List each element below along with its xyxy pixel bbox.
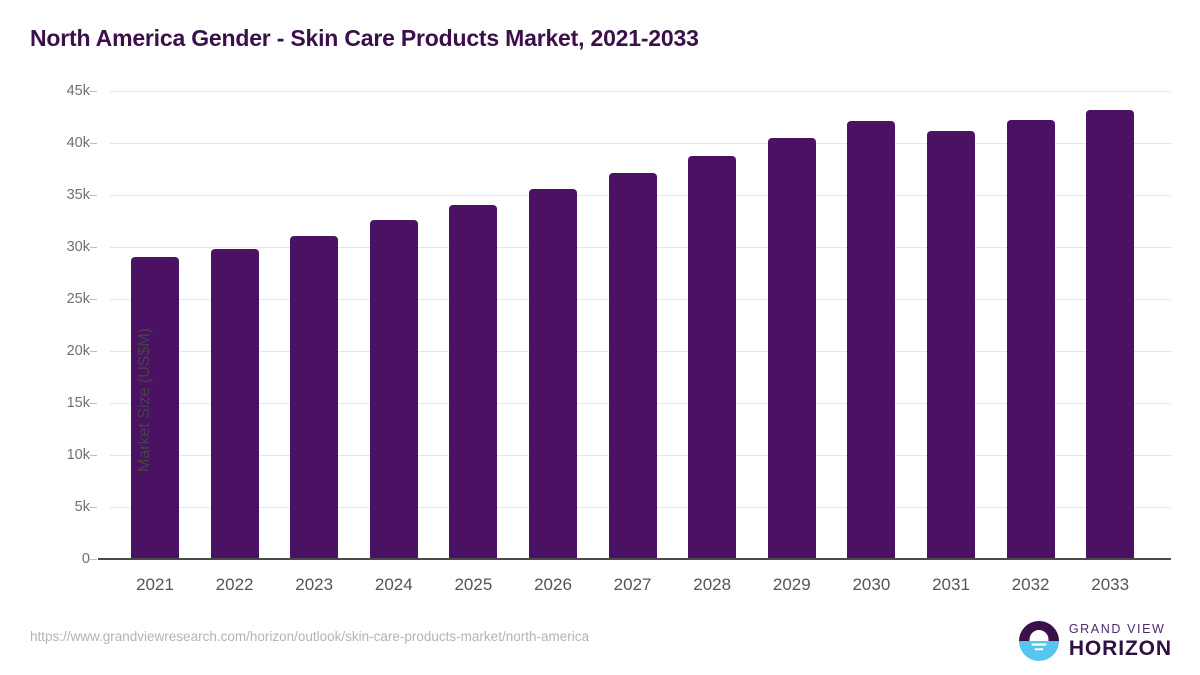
source-url[interactable]: https://www.grandviewresearch.com/horizo…: [30, 629, 589, 644]
brand-logo[interactable]: GRAND VIEW HORIZON: [1018, 620, 1172, 662]
y-axis-tick-mark: [90, 507, 97, 508]
chart-page: North America Gender - Skin Care Product…: [0, 0, 1200, 675]
bar[interactable]: [290, 236, 338, 558]
y-axis-tick-mark: [90, 351, 97, 352]
y-axis-tick-label: 25k: [20, 291, 90, 307]
y-axis-tick-label: 40k: [20, 135, 90, 151]
x-axis-tick-label: 2027: [614, 575, 652, 595]
y-axis-tick-label: 45k: [20, 83, 90, 99]
y-axis-tick-mark: [90, 195, 97, 196]
bar[interactable]: [529, 189, 577, 558]
bar[interactable]: [768, 138, 816, 558]
page-title: North America Gender - Skin Care Product…: [30, 25, 699, 52]
y-axis-tick-mark: [90, 559, 97, 560]
plot-area: 2021202220232024202520262027202820292030…: [110, 91, 1171, 559]
x-axis-tick-label: 2026: [534, 575, 572, 595]
y-axis-tick-label: 0: [20, 551, 90, 567]
bar[interactable]: [609, 173, 657, 558]
x-axis-tick-label: 2030: [852, 575, 890, 595]
bar[interactable]: [688, 156, 736, 558]
x-axis-tick-label: 2022: [216, 575, 254, 595]
x-axis-tick-label: 2033: [1091, 575, 1129, 595]
bar[interactable]: [211, 249, 259, 558]
x-axis-tick-label: 2028: [693, 575, 731, 595]
logo-text-horizon: HORIZON: [1069, 638, 1172, 659]
bar[interactable]: [370, 220, 418, 558]
x-axis-tick-label: 2024: [375, 575, 413, 595]
y-axis-title: Market Size (US$M): [136, 190, 154, 610]
y-axis-tick-label: 5k: [20, 499, 90, 515]
bar[interactable]: [449, 205, 497, 558]
x-axis-tick-label: 2029: [773, 575, 811, 595]
x-axis-line: [98, 558, 1171, 560]
y-axis-tick-mark: [90, 247, 97, 248]
y-axis-tick-mark: [90, 143, 97, 144]
y-axis-tick-group: 05k10k15k20k25k30k35k40k45k: [20, 91, 90, 559]
y-axis-tick-mark: [90, 91, 97, 92]
bar[interactable]: [927, 131, 975, 558]
horizon-sunset-circle-icon: [1018, 620, 1060, 662]
bar[interactable]: [847, 121, 895, 558]
y-axis-tick-label: 20k: [20, 343, 90, 359]
y-axis-tick-label: 35k: [20, 187, 90, 203]
y-axis-tick-label: 30k: [20, 239, 90, 255]
y-axis-tick-label: 15k: [20, 395, 90, 411]
x-axis-tick-label: 2031: [932, 575, 970, 595]
y-axis-tick-mark: [90, 403, 97, 404]
bar[interactable]: [1007, 120, 1055, 558]
gridline: [110, 91, 1171, 92]
x-axis-tick-label: 2023: [295, 575, 333, 595]
x-axis-tick-label: 2025: [454, 575, 492, 595]
y-axis-tick-label: 10k: [20, 447, 90, 463]
x-axis-tick-label: 2032: [1012, 575, 1050, 595]
logo-wordmark: GRAND VIEW HORIZON: [1069, 623, 1172, 660]
logo-text-grand-view: GRAND VIEW: [1069, 623, 1172, 636]
y-axis-tick-mark: [90, 299, 97, 300]
y-axis-tick-mark: [90, 455, 97, 456]
bar[interactable]: [1086, 110, 1134, 558]
